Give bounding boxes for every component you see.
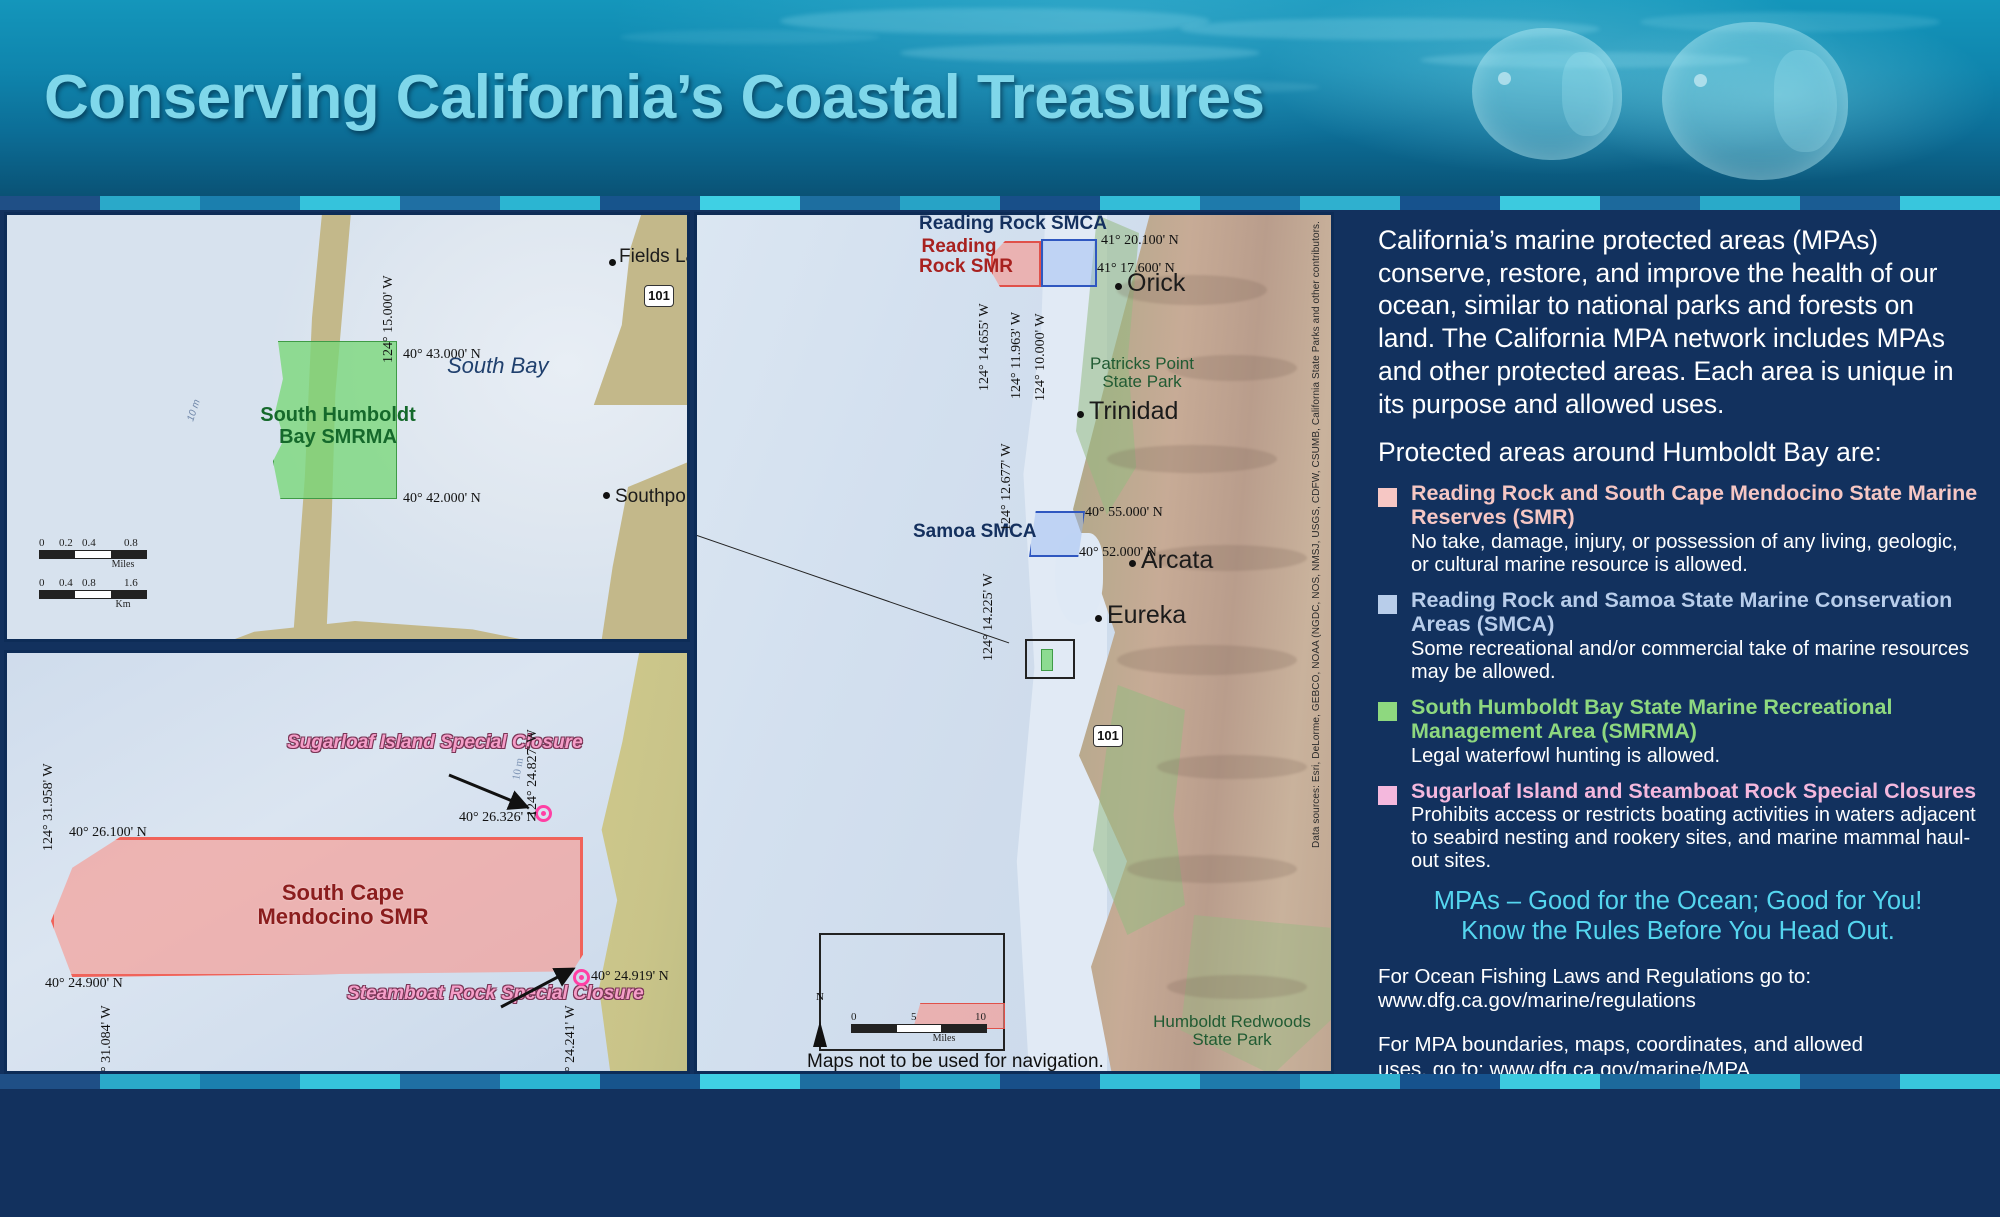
info-panel: California’s marine protected areas (MPA… xyxy=(1352,210,2000,1074)
closure-label-sugarloaf: Sugarloaf Island Special Closure xyxy=(287,732,507,753)
legend-title-smr: Reading Rock and South Cape Mendocino St… xyxy=(1411,481,1978,530)
place-dot-southport xyxy=(603,492,610,499)
place-label-eureka: Eureka xyxy=(1107,601,1186,630)
coord-mend-lon-1: 124° 31.958' W xyxy=(41,763,57,851)
reading-rock-smca-polygon xyxy=(1041,239,1097,287)
place-label-fields-landing: Fields Landing xyxy=(619,247,690,268)
place-dot-orick xyxy=(1115,283,1122,290)
coord-ov-lat-1: 41° 20.100' N xyxy=(1101,233,1179,249)
coord-mend-lon-4: 124° 24.241' W xyxy=(563,1005,579,1074)
park-label-patricks-point: Patricks Point State Park xyxy=(1077,355,1207,391)
place-label-southport: Southport Landing xyxy=(615,487,690,508)
data-sources-attribution: Data sources: Esri, DeLorme, GEBCO, NOAA… xyxy=(1311,221,1329,921)
legend-desc-special-closures: Prohibits access or restricts boating ac… xyxy=(1411,804,1978,874)
legend-swatch-smca xyxy=(1378,595,1397,614)
scalebar-overview: 0 5 10 Miles xyxy=(851,1011,987,1044)
poster: Conserving California’s Coastal Treasure… xyxy=(0,0,2000,1217)
legend-swatch-smrma xyxy=(1378,702,1397,721)
protected-areas-subhead: Protected areas around Humboldt Bay are: xyxy=(1378,436,1978,469)
legend-swatch-special-closures xyxy=(1378,786,1397,805)
coord-ov-lon-4: 124° 12.677' W xyxy=(999,443,1015,531)
place-label-trinidad: Trinidad xyxy=(1089,397,1178,426)
navigation-disclaimer: Maps not to be used for navigation. xyxy=(807,1051,1104,1073)
page-title: Conserving California’s Coastal Treasure… xyxy=(44,62,1264,133)
mpa-legend: Reading Rock and South Cape Mendocino St… xyxy=(1378,481,1978,873)
legend-title-smrma: South Humboldt Bay State Marine Recreati… xyxy=(1411,695,1978,744)
reading-rock-smr-label: Reading Rock SMR xyxy=(919,237,999,277)
fishing-regs-url[interactable]: www.dfg.ca.gov/marine/regulations xyxy=(1378,989,1696,1012)
coord-mend-lat-1: 40° 26.100' N xyxy=(69,825,147,841)
legend-item-smr[interactable]: Reading Rock and South Cape Mendocino St… xyxy=(1378,481,1978,577)
intro-paragraph: California’s marine protected areas (MPA… xyxy=(1378,224,1978,420)
legend-title-special-closures: Sugarloaf Island and Steamboat Rock Spec… xyxy=(1411,779,1978,803)
place-dot-trinidad xyxy=(1077,411,1084,418)
sunfish-left-decor xyxy=(1472,28,1622,160)
coord-lon-west: 124° 15.000' W xyxy=(381,275,397,363)
coord-mend-lat-4: 40° 24.919' N xyxy=(591,969,669,985)
smr-area-label: South Cape Mendocino SMR xyxy=(223,881,463,929)
scalebar-km: 0 0.4 0.8 1.6 Km xyxy=(39,577,147,610)
highway-shield-101: 101 xyxy=(644,285,674,307)
coord-ov-lon-1: 124° 14.655' W xyxy=(977,303,993,391)
legend-swatch-smr xyxy=(1378,488,1397,507)
legend-item-smca[interactable]: Reading Rock and Samoa State Marine Cons… xyxy=(1378,588,1978,684)
place-dot-eureka xyxy=(1095,615,1102,622)
leader-arrow-steamboat xyxy=(497,963,587,1011)
coord-ov-lat-2: 41° 17.600' N xyxy=(1097,261,1175,277)
map-south-cape-mendocino[interactable]: South Cape Mendocino SMR Sugarloaf Islan… xyxy=(4,650,690,1074)
coord-ov-lon-2: 124° 11.963' W xyxy=(1009,312,1025,399)
map-overview-humboldt-coast[interactable]: Reading Rock SMCA Reading Rock SMR Samoa… xyxy=(694,212,1334,1074)
coord-mend-lon-2: 124° 31.084' W xyxy=(99,1005,115,1074)
sunfish-right-decor xyxy=(1662,22,1848,180)
poster-header: Conserving California’s Coastal Treasure… xyxy=(0,0,2000,196)
coord-mend-lat-3: 40° 26.326' N xyxy=(459,810,537,826)
legend-title-smca: Reading Rock and Samoa State Marine Cons… xyxy=(1411,588,1978,637)
legend-item-smrma[interactable]: South Humboldt Bay State Marine Recreati… xyxy=(1378,695,1978,768)
samoa-smca-polygon xyxy=(1029,511,1085,557)
header-color-strip xyxy=(0,196,2000,210)
coord-ov-lat-4: 40° 52.000' N xyxy=(1079,545,1157,561)
closure-marker-steamboat xyxy=(573,969,590,986)
resource-links: For Ocean Fishing Laws and Regulations g… xyxy=(1378,965,1978,1082)
coord-ov-lon-5: 124° 14.225' W xyxy=(981,573,997,661)
inset-smrma-marker xyxy=(1041,649,1053,671)
park-label-humboldt-redwoods: Humboldt Redwoods State Park xyxy=(1137,1013,1327,1049)
legend-item-special-closures[interactable]: Sugarloaf Island and Steamboat Rock Spec… xyxy=(1378,779,1978,874)
map-south-humboldt-bay[interactable]: South Humboldt Bay SMRMA South Bay South… xyxy=(4,212,690,642)
coord-mend-lon-3: 124° 24.827' W xyxy=(525,729,541,817)
coord-mend-lat-2: 40° 24.900' N xyxy=(45,976,123,992)
north-arrow-icon xyxy=(813,1021,827,1047)
inset-leader-south-bay xyxy=(697,535,1009,643)
coord-lat-north-top: 40° 43.000' N xyxy=(403,347,481,363)
tagline-line-1: MPAs – Good for the Ocean; Good for You! xyxy=(1378,886,1978,917)
legend-desc-smrma: Legal waterfowl hunting is allowed. xyxy=(1411,745,1978,768)
place-dot-arcata xyxy=(1129,560,1136,567)
smrma-area-label: South Humboldt Bay SMRMA xyxy=(253,405,423,448)
footer-color-strip xyxy=(0,1074,2000,1089)
reading-rock-smca-label: Reading Rock SMCA xyxy=(919,213,1107,235)
place-dot-fields-landing xyxy=(609,259,616,266)
samoa-smca-label: Samoa SMCA xyxy=(913,521,1037,543)
fishing-regs-label: For Ocean Fishing Laws and Regulations g… xyxy=(1378,965,1811,988)
coord-lat-north-bottom: 40° 42.000' N xyxy=(403,491,481,507)
legend-desc-smr: No take, damage, injury, or possession o… xyxy=(1411,531,1978,577)
legend-desc-smca: Some recreational and/or commercial take… xyxy=(1411,638,1978,684)
coord-ov-lon-3: 124° 10.000' W xyxy=(1033,313,1049,401)
tagline: MPAs – Good for the Ocean; Good for You!… xyxy=(1378,886,1978,947)
mpa-info-label: For MPA boundaries, maps, coordinates, a… xyxy=(1378,1033,1863,1056)
highway-shield-101-overview: 101 xyxy=(1093,725,1123,747)
poster-footer: CALIFORNIA DEPARTMENT OF FISH & WILDLIFE… xyxy=(0,1089,2000,1217)
scalebar-miles: 0 0.2 0.4 0.8 Miles xyxy=(39,537,147,570)
tagline-line-2: Know the Rules Before You Head Out. xyxy=(1378,916,1978,947)
depth-contour-label: 10 m xyxy=(185,398,202,423)
coord-ov-lat-3: 40° 55.000' N xyxy=(1085,505,1163,521)
